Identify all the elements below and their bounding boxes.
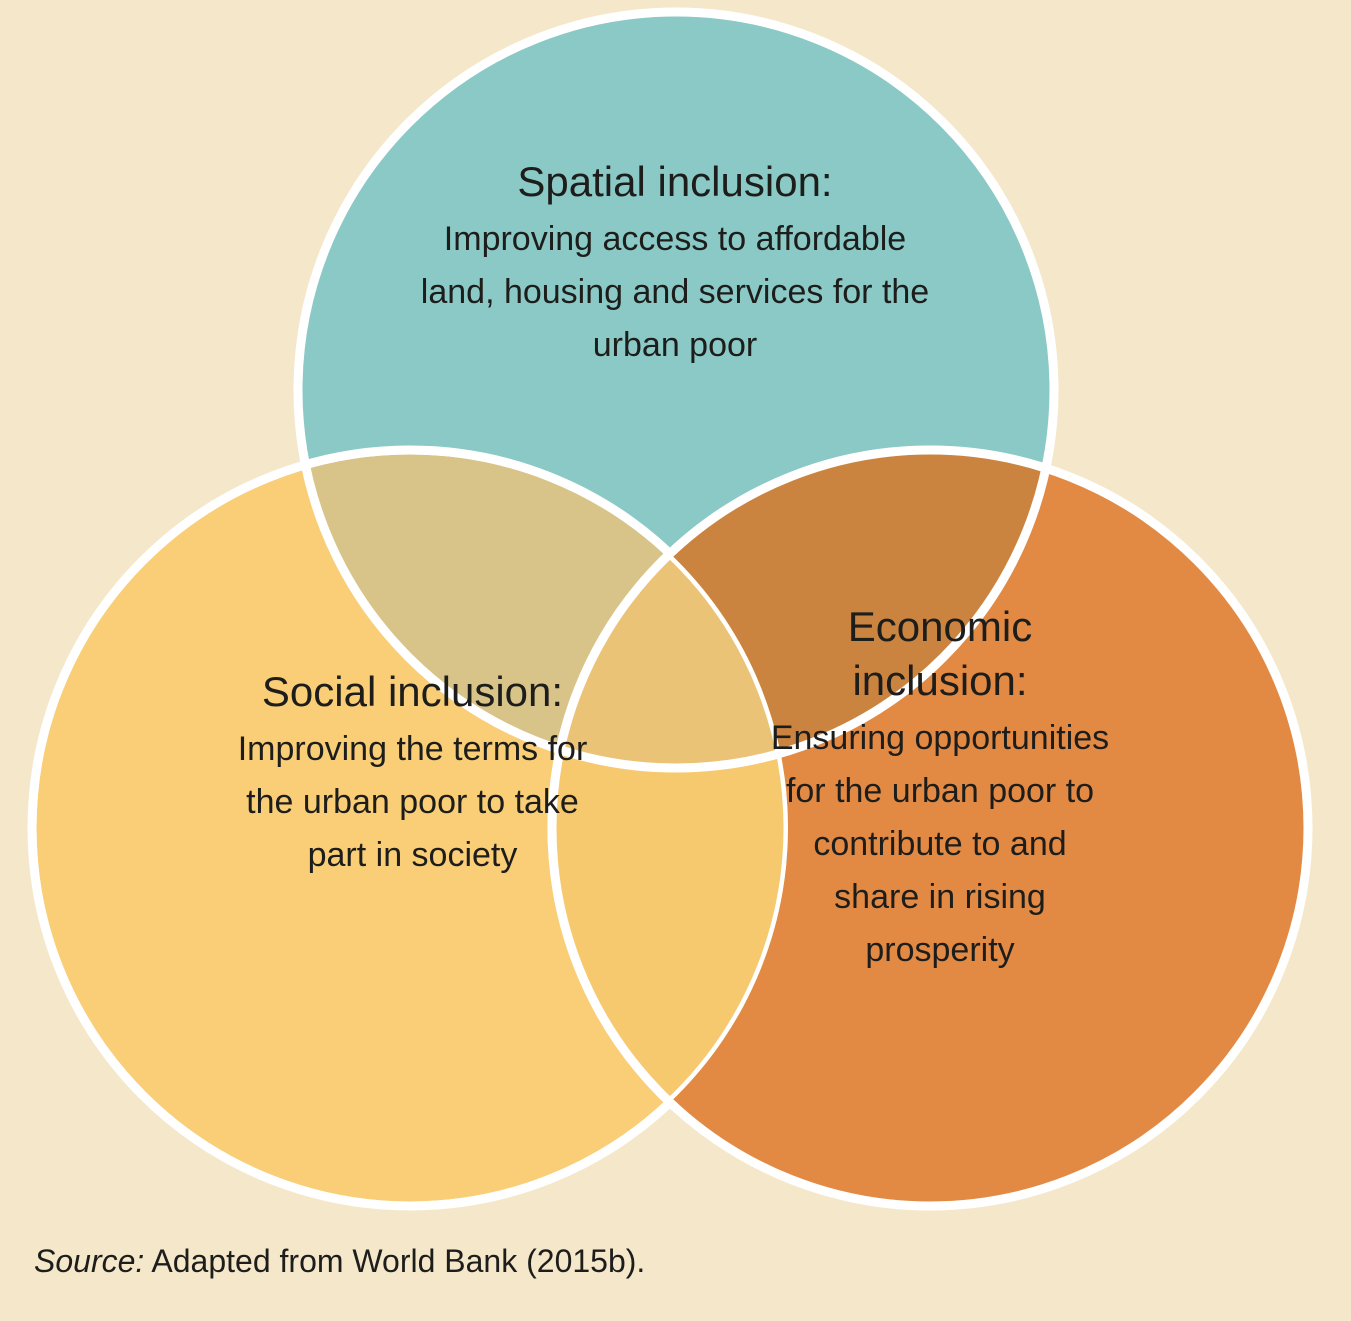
economic-inclusion-heading: Economic inclusion: — [770, 600, 1110, 708]
source-label: Source: — [34, 1243, 144, 1279]
source-text: Adapted from World Bank (2015b). — [151, 1243, 645, 1279]
social-inclusion-body: Improving the terms for the urban poor t… — [215, 723, 610, 882]
social-inclusion-text: Social inclusion: Improving the terms fo… — [215, 665, 610, 882]
spatial-inclusion-heading: Spatial inclusion: — [420, 155, 930, 209]
economic-inclusion-body: Ensuring opportunities for the urban poo… — [770, 712, 1110, 977]
spatial-inclusion-body: Improving access to affordable land, hou… — [420, 213, 930, 372]
social-inclusion-heading: Social inclusion: — [215, 665, 610, 719]
spatial-inclusion-text: Spatial inclusion: Improving access to a… — [420, 155, 930, 372]
economic-inclusion-text: Economic inclusion: Ensuring opportuniti… — [770, 600, 1110, 977]
figure-container: Spatial inclusion: Improving access to a… — [0, 0, 1351, 1321]
source-note: Source: Adapted from World Bank (2015b). — [34, 1243, 645, 1280]
